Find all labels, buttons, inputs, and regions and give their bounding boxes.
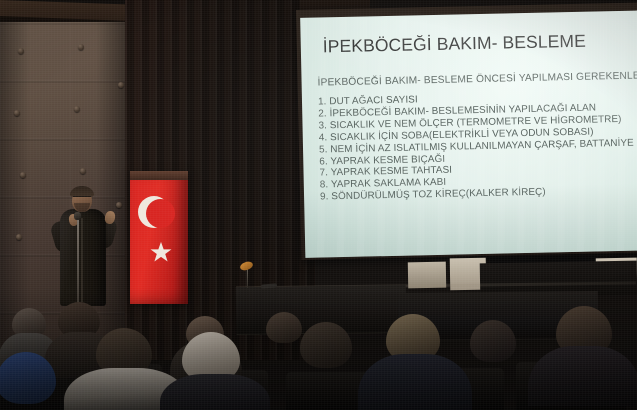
glasses-icon bbox=[73, 196, 91, 200]
audience-shoulders bbox=[358, 354, 472, 410]
crescent-icon bbox=[138, 196, 170, 228]
microphone-icon bbox=[74, 212, 81, 220]
presenter bbox=[48, 188, 126, 306]
presenter-jacket-zipper bbox=[81, 218, 83, 302]
auditorium-room: İPEKBÖCEĞİ BAKIM- BESLEME İPEKBÖCEĞİ BAK… bbox=[0, 0, 637, 410]
audience-head bbox=[470, 320, 516, 362]
slide-title: İPEKBÖCEĞİ BAKIM- BESLEME bbox=[323, 30, 623, 58]
audience bbox=[0, 300, 637, 410]
projection-screen: İPEKBÖCEĞİ BAKIM- BESLEME İPEKBÖCEĞİ BAK… bbox=[296, 2, 637, 261]
banner-rail bbox=[130, 171, 188, 180]
projected-slide: İPEKBÖCEĞİ BAKIM- BESLEME İPEKBÖCEĞİ BAK… bbox=[300, 10, 637, 257]
photo-scene: İPEKBÖCEĞİ BAKIM- BESLEME İPEKBÖCEĞİ BAK… bbox=[0, 0, 637, 410]
audience-shoulders bbox=[528, 346, 637, 406]
audience-shoulders bbox=[160, 374, 270, 410]
presenter-torso bbox=[60, 209, 106, 306]
slide-subtitle: İPEKBÖCEĞİ BAKIM- BESLEME ÖNCESİ YAPILMA… bbox=[317, 70, 637, 89]
slide-bullet-list: 1. DUT AĞACI SAYISI2. İPEKBÖCEĞİ BAKIM- … bbox=[318, 89, 637, 204]
audience-head bbox=[300, 322, 352, 368]
microphone-stand bbox=[77, 216, 79, 304]
turkish-flag-banner bbox=[130, 171, 188, 304]
audience-head bbox=[266, 312, 302, 343]
